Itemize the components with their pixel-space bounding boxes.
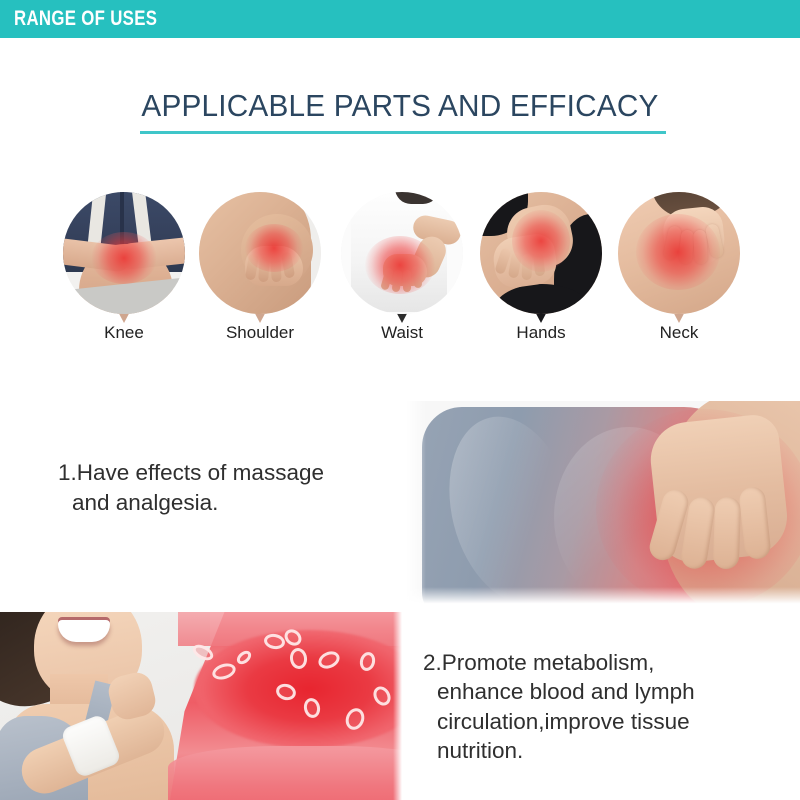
blood-vessel-illustration: [168, 612, 403, 800]
body-part-label: Waist: [341, 323, 463, 343]
body-part-item-knee[interactable]: Knee: [63, 192, 185, 314]
benefit-2-line1: Promote metabolism,: [442, 650, 655, 675]
body-parts-row: Knee Shoulder W: [0, 192, 800, 352]
section-heading-wrap: APPLICABLE PARTS AND EFFICACY: [0, 88, 800, 124]
body-part-item-waist[interactable]: Waist: [341, 192, 463, 314]
benefit-1-line1: Have effects of massage: [77, 460, 324, 485]
benefit-2-line3: circulation,improve tissue: [423, 707, 783, 736]
heading-underline-divider: [140, 131, 666, 134]
body-part-photo-waist: [341, 192, 463, 314]
body-part-label: Shoulder: [199, 323, 321, 343]
body-part-item-hands[interactable]: Hands: [480, 192, 602, 314]
benefit-1-line2: and analgesia.: [58, 488, 388, 518]
body-part-label: Knee: [63, 323, 185, 343]
banner-title: RANGE OF USES: [14, 7, 157, 31]
body-part-item-neck[interactable]: Neck: [618, 192, 740, 314]
body-part-photo-shoulder: [199, 192, 321, 314]
benefit-2-line2: enhance blood and lymph: [423, 677, 783, 706]
benefit-2-text: 2.Promote metabolism, enhance blood and …: [423, 648, 783, 765]
benefit-1-number: 1.: [58, 460, 77, 485]
benefit-2-line4: nutrition.: [423, 736, 783, 765]
body-part-photo-neck: [618, 192, 740, 314]
body-part-photo-knee: [63, 192, 185, 314]
body-part-label: Hands: [480, 323, 602, 343]
body-part-photo-hands: [480, 192, 602, 314]
range-of-uses-banner: RANGE OF USES: [0, 0, 800, 38]
benefit-2-number: 2.: [423, 650, 442, 675]
body-part-item-shoulder[interactable]: Shoulder: [199, 192, 321, 314]
benefit-1-text: 1.Have effects of massage and analgesia.: [58, 458, 388, 518]
body-part-label: Neck: [618, 323, 740, 343]
page-title: APPLICABLE PARTS AND EFFICACY: [16, 88, 784, 124]
benefit-2-photo-woman-and-vessel: [0, 612, 403, 800]
benefit-1-photo-back-pain: [404, 401, 800, 605]
